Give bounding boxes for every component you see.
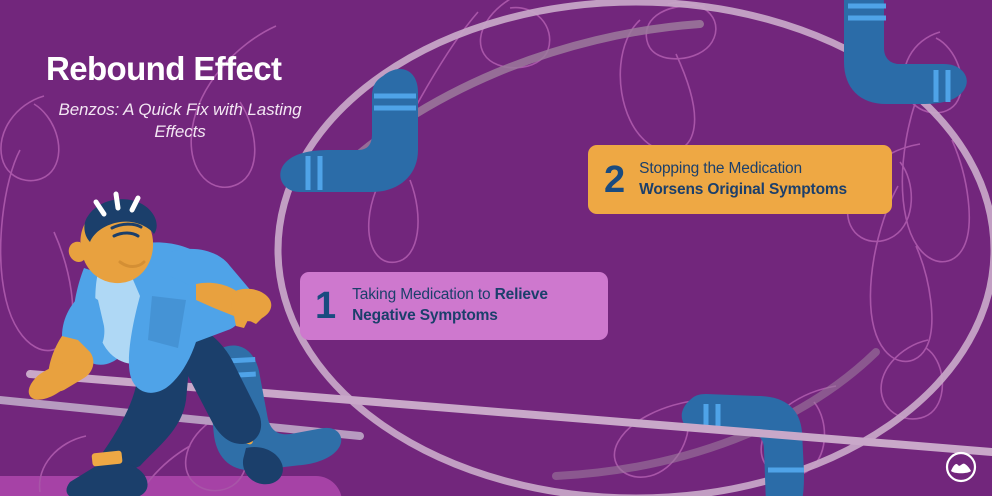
callout-box-2[interactable]: 2 Stopping the Medication Worsens Origin… [588, 145, 892, 214]
mountain-circle-logo[interactable] [944, 450, 978, 484]
callout-1-text: Taking Medication to Relieve Negative Sy… [352, 285, 548, 326]
callout-1-number: 1 [315, 287, 336, 325]
callout-2-number: 2 [604, 161, 625, 199]
infographic-canvas: Rebound Effect Benzos: A Quick Fix with … [0, 0, 992, 496]
front-shoe [66, 462, 147, 496]
hand-right [231, 289, 271, 322]
title-block: Rebound Effect Benzos: A Quick Fix with … [46, 52, 346, 144]
callout-1-line1-plain: Taking Medication to [352, 286, 494, 303]
page-subtitle: Benzos: A Quick Fix with Lasting Effects [46, 99, 314, 144]
callout-1-line2: Negative Symptoms [352, 307, 498, 324]
callout-2-text: Stopping the Medication Worsens Original… [639, 159, 847, 200]
callout-2-line2: Worsens Original Symptoms [639, 181, 847, 198]
callout-2-line1: Stopping the Medication [639, 160, 802, 177]
page-title: Rebound Effect [46, 52, 346, 87]
callout-1-line1-bold: Relieve [495, 286, 548, 303]
callout-box-1[interactable]: 1 Taking Medication to Relieve Negative … [300, 272, 608, 340]
hand-left [29, 362, 84, 400]
